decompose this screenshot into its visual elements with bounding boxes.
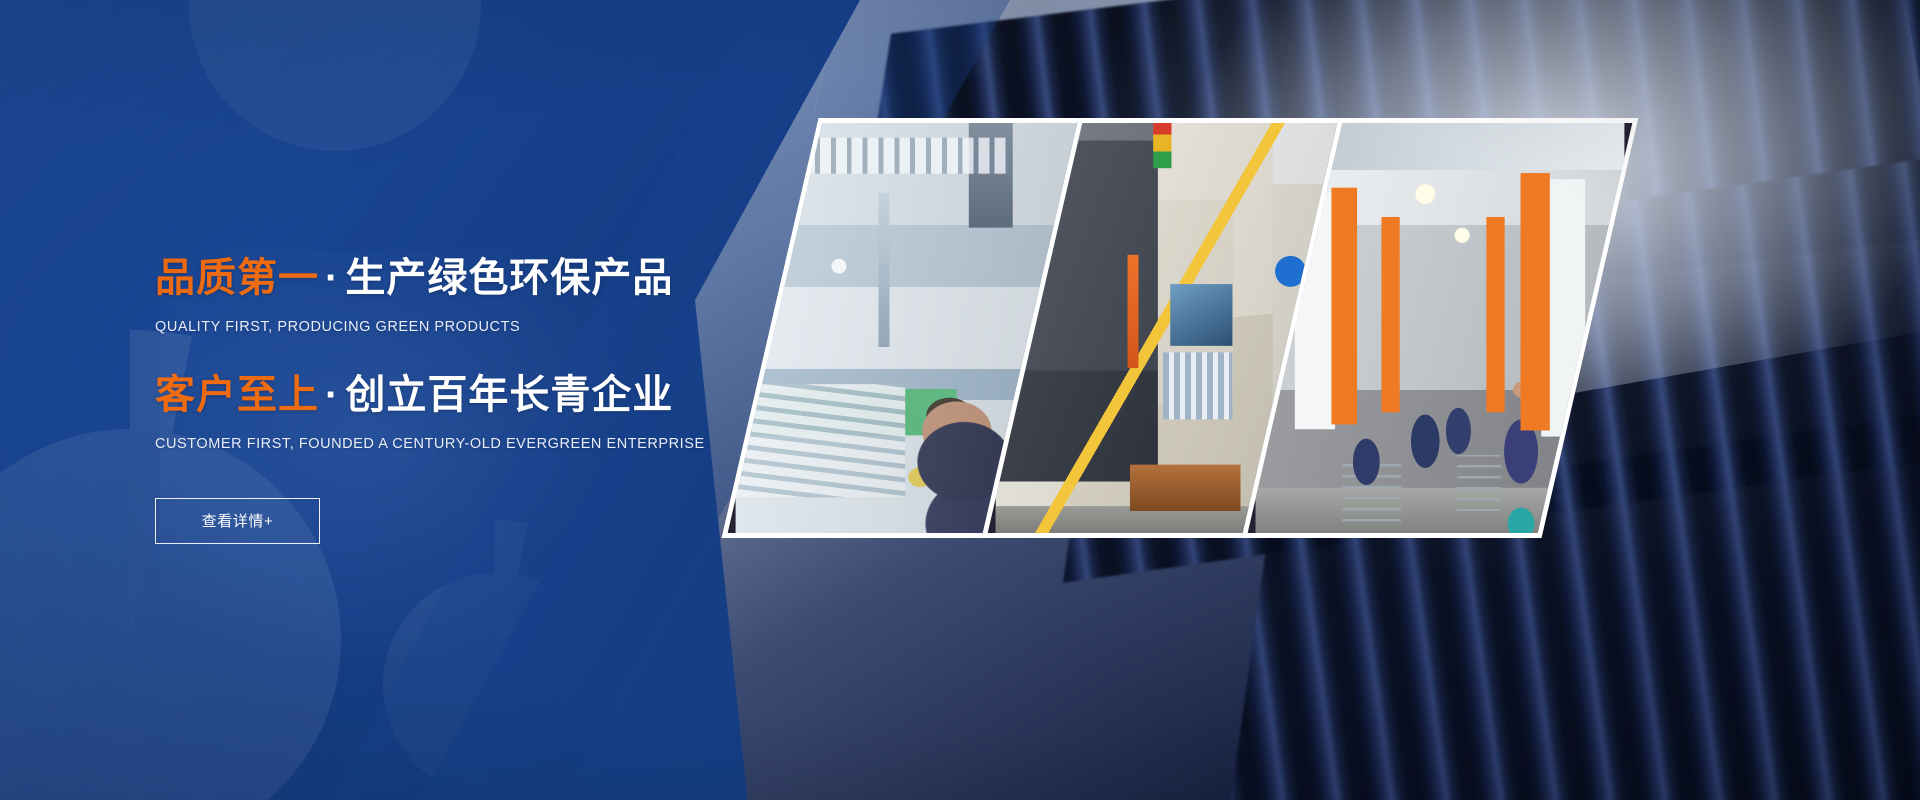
headline-1-separator: · [319, 256, 345, 300]
view-details-button[interactable]: 查看详情+ [155, 498, 320, 544]
subtitle-1: QUALITY FIRST, PRODUCING GREEN PRODUCTS [155, 319, 795, 335]
headline-2: 客户至上·创立百年长青企业 [155, 373, 795, 418]
subtitle-2: CUSTOMER FIRST, FOUNDED A CENTURY-OLD EV… [155, 436, 795, 452]
banner-content: 品质第一·生产绿色环保产品 QUALITY FIRST, PRODUCING G… [155, 0, 795, 800]
headline-1: 品质第一·生产绿色环保产品 [155, 256, 795, 301]
hero-banner: 品质第一·生产绿色环保产品 QUALITY FIRST, PRODUCING G… [0, 0, 1920, 800]
photo-collage [640, 0, 1920, 800]
headline-1-accent: 品质第一 [155, 256, 319, 300]
headline-1-rest: 生产绿色环保产品 [345, 256, 673, 300]
headline-2-separator: · [319, 373, 345, 417]
headline-spacer [155, 335, 795, 373]
headline-2-accent: 客户至上 [155, 373, 319, 417]
headline-2-rest: 创立百年长青企业 [345, 373, 673, 417]
